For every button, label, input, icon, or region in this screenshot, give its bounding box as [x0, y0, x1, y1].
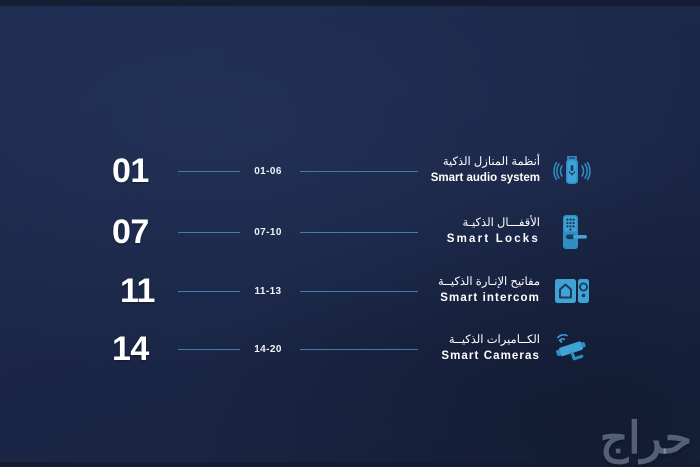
item-number: 11 [120, 274, 182, 308]
item-labels: مفاتيح الإنـارة الذكيــة Smart intercom [418, 275, 546, 306]
item-title-arabic: الأقفـــال الذكيـة [418, 216, 540, 232]
bottom-letterbox-bar [0, 462, 700, 467]
item-range-label: 11-13 [238, 286, 298, 297]
item-range-label: 01-06 [238, 166, 298, 177]
item-title-english: Smart Locks [418, 232, 540, 248]
item-title-english: Smart Cameras [418, 349, 540, 365]
connector-line-left [178, 171, 240, 172]
connector-line-right [300, 291, 418, 292]
list-item[interactable]: 11 11-13 مفاتيح الإنـارة الذكيــة Smart … [0, 262, 700, 320]
item-number: 07 [112, 215, 174, 249]
item-title-english: Smart intercom [418, 291, 540, 307]
intercom-panel-icon [546, 265, 598, 317]
item-range-label: 07-10 [238, 227, 298, 238]
item-labels: أنظمة المنازل الذكية Smart audio system [418, 155, 546, 186]
connector-line-right [300, 232, 418, 233]
list-item[interactable]: 01 01-06 أنظمة المنازل الذكية Smart audi… [0, 142, 700, 200]
connector-line-right [300, 171, 418, 172]
connector-line-right [300, 349, 418, 350]
item-range-label: 14-20 [238, 344, 298, 355]
security-camera-icon [546, 323, 598, 375]
smart-door-lock-icon [546, 206, 598, 258]
connector-line-left [178, 291, 240, 292]
item-title-arabic: أنظمة المنازل الذكية [418, 155, 540, 171]
item-title-arabic: مفاتيح الإنـارة الذكيــة [418, 275, 540, 291]
item-number: 01 [112, 154, 174, 188]
item-number: 14 [112, 332, 174, 366]
connector-line-left [178, 349, 240, 350]
item-title-english: Smart audio system [418, 171, 540, 187]
connector-line-left [178, 232, 240, 233]
slide-canvas: 01 01-06 أنظمة المنازل الذكية Smart audi… [0, 0, 700, 467]
item-title-arabic: الكــاميرات الذكيــة [418, 333, 540, 349]
list-item[interactable]: 14 14-20 الكــاميرات الذكيــة Smart Came… [0, 320, 700, 378]
item-labels: الأقفـــال الذكيـة Smart Locks [418, 216, 546, 247]
haraj-watermark: حراج [600, 417, 692, 461]
list-item[interactable]: 07 07-10 الأقفـــال الذكيـة Smart Locks [0, 203, 700, 261]
smart-speaker-icon [546, 145, 598, 197]
top-letterbox-bar [0, 0, 700, 6]
item-labels: الكــاميرات الذكيــة Smart Cameras [418, 333, 546, 364]
